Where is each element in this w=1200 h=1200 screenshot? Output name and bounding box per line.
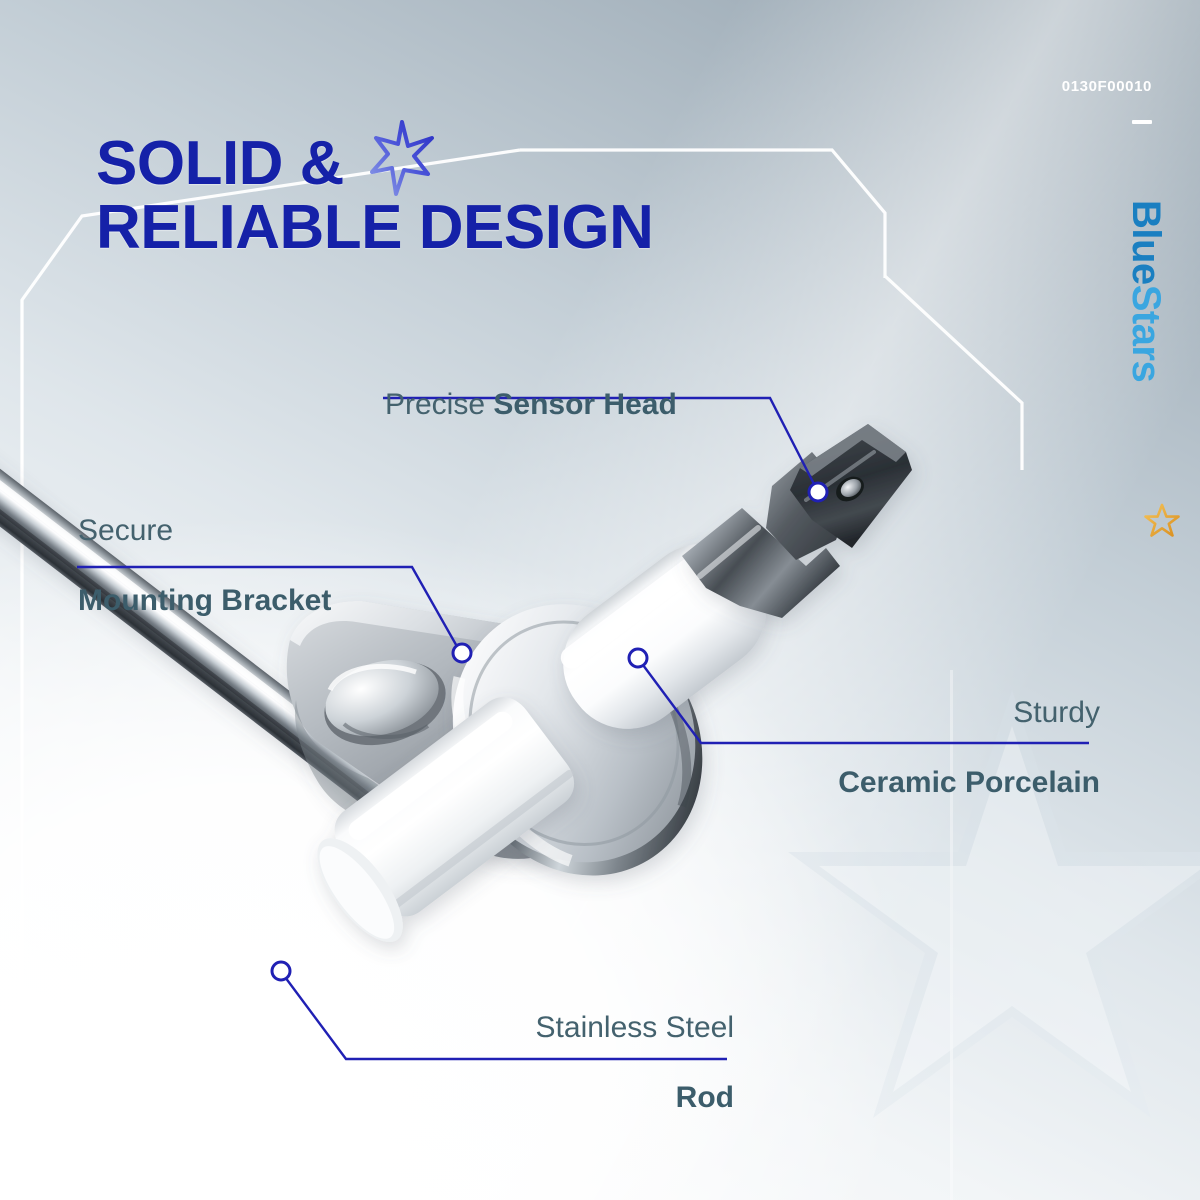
brand-word-stars: Stars bbox=[1124, 285, 1168, 383]
callout-sensor-head-thin: Precise bbox=[385, 388, 493, 421]
callout-ceramic-porcelain-bold: Ceramic Porcelain bbox=[838, 765, 1100, 800]
brand-word-blue: Blue bbox=[1124, 200, 1168, 285]
star-gold-icon bbox=[1142, 502, 1182, 542]
callout-mounting-bracket-thin: Secure bbox=[78, 513, 331, 548]
callout-sensor-head-bold: Sensor Head bbox=[493, 388, 676, 421]
callout-mounting-bracket: Secure Mounting Bracket bbox=[78, 478, 331, 653]
callout-stainless-rod-bold: Rod bbox=[536, 1080, 734, 1115]
callout-mounting-bracket-bold: Mounting Bracket bbox=[78, 583, 331, 618]
page-title: SOLID & RELIABLE DESIGN bbox=[96, 132, 653, 260]
callout-stainless-rod-thin: Stainless Steel bbox=[536, 1010, 734, 1045]
product-sku: 0130F00010 bbox=[1062, 78, 1152, 95]
callout-stainless-rod: Stainless Steel Rod bbox=[536, 975, 734, 1150]
brand-logo: BlueStars bbox=[1114, 200, 1178, 530]
callout-ceramic-porcelain: Sturdy Ceramic Porcelain bbox=[838, 660, 1100, 835]
callout-sensor-head: Precise Sensor Head bbox=[385, 352, 677, 422]
sku-dash bbox=[1132, 120, 1152, 124]
brand-logo-text: BlueStars bbox=[1126, 200, 1166, 382]
infographic-page: 0130F00010 BlueStars SOLID & RELIABLE DE… bbox=[0, 0, 1200, 1200]
callout-ceramic-porcelain-thin: Sturdy bbox=[838, 695, 1100, 730]
